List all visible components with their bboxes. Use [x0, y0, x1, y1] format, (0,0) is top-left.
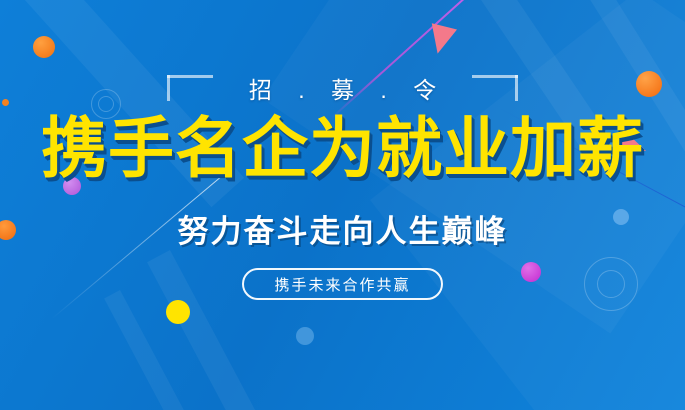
slogan-pill-button[interactable]: 携手未来合作共赢	[242, 268, 442, 300]
eyebrow-text: 招 . 募 . 令	[239, 71, 446, 105]
orange-circle-top-left	[33, 36, 55, 58]
recruitment-banner: 招 . 募 . 令 携手名企为就业加薪 努力奋斗走向人生巅峰 携手未来合作共赢	[0, 0, 685, 410]
yellow-circle-bottom-left	[166, 300, 190, 324]
headline: 携手名企为就业加薪	[0, 115, 685, 181]
corner-bracket-left-icon	[167, 75, 213, 101]
lightblue-dot-bottom	[296, 327, 314, 345]
eyebrow-row: 招 . 募 . 令	[0, 66, 685, 110]
subheadline: 努力奋斗走向人生巅峰	[0, 206, 685, 251]
pill-button-wrapper: 携手未来合作共赢	[0, 268, 685, 300]
corner-bracket-right-icon	[472, 75, 518, 101]
